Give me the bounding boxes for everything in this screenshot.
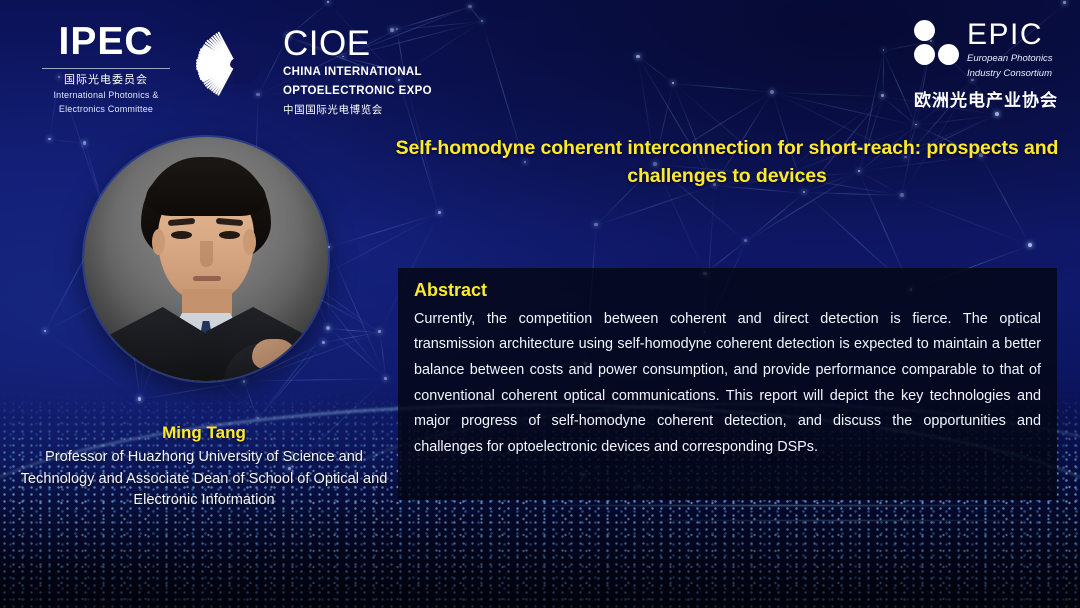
cioe-chinese-name: 中国国际光电博览会 — [283, 102, 432, 117]
network-edge — [673, 83, 772, 93]
network-edge — [328, 247, 330, 328]
speaker-info: Ming Tang Professor of Huazhong Universi… — [8, 422, 400, 512]
network-node — [326, 326, 330, 330]
network-node — [803, 191, 805, 193]
talk-title: Self-homodyne coherent interconnection f… — [392, 135, 1062, 190]
logo-ipec: IPEC 国际光电委员会 International Photonics & E… — [42, 22, 170, 116]
network-node — [378, 330, 381, 333]
network-edge — [379, 332, 386, 379]
network-edge — [772, 92, 916, 126]
abstract-heading: Abstract — [414, 280, 1041, 302]
network-node — [594, 223, 598, 227]
epic-subtitle-line2: Industry Consortium — [967, 68, 1053, 80]
cioe-fan-notch — [233, 42, 275, 84]
epic-chinese-name: 欧洲光电产业协会 — [914, 86, 1058, 111]
network-edge — [883, 50, 917, 125]
epic-dot-bottom-left — [914, 44, 935, 65]
network-edge — [50, 139, 85, 144]
network-edge — [328, 328, 386, 380]
light-streak — [620, 520, 1060, 521]
ipec-chinese-name: 国际光电委员会 — [42, 74, 170, 88]
cioe-text-block: CIOE CHINA INTERNATIONAL OPTOELECTRONIC … — [283, 24, 432, 117]
network-edge — [745, 192, 804, 242]
logo-epic: EPIC European Photonics Industry Consort… — [914, 20, 1058, 111]
epic-subtitle-line1: European Photonics — [967, 53, 1053, 65]
network-node — [883, 49, 885, 51]
network-node — [257, 417, 259, 419]
network-node — [995, 112, 999, 116]
portrait-vignette — [84, 137, 328, 381]
network-edge — [328, 328, 379, 333]
cioe-subtitle-line1: CHINA INTERNATIONAL — [283, 65, 432, 80]
network-node — [481, 20, 483, 22]
network-node — [44, 330, 46, 332]
network-edge — [804, 192, 902, 196]
speaker-portrait — [84, 137, 328, 381]
network-edge — [329, 213, 440, 248]
network-edge — [916, 114, 997, 125]
ipec-english-line2: Electronics Committee — [42, 104, 170, 116]
abstract-body: Currently, the competition between coher… — [414, 307, 1041, 461]
network-edge — [139, 381, 244, 400]
network-edge — [244, 382, 259, 419]
epic-wordmark: EPIC — [967, 20, 1053, 50]
light-streak — [500, 505, 1060, 506]
speaker-name: Ming Tang — [8, 422, 400, 445]
epic-dots-icon — [914, 20, 960, 65]
network-node — [138, 397, 141, 400]
network-node — [48, 138, 51, 141]
network-node — [468, 5, 471, 8]
network-node — [1063, 1, 1065, 3]
ipec-wordmark: IPEC — [42, 22, 170, 61]
network-edge — [324, 332, 380, 343]
network-node — [915, 124, 917, 126]
network-edge — [328, 247, 386, 379]
network-node — [384, 377, 387, 380]
network-edge — [901, 195, 1030, 246]
network-edge — [638, 57, 674, 84]
network-node — [438, 211, 441, 214]
speaker-role: Professor of Huazhong University of Scie… — [8, 447, 400, 512]
network-node — [881, 94, 884, 97]
network-node — [636, 55, 640, 59]
network-node — [322, 341, 325, 344]
network-edge — [470, 7, 483, 22]
network-node — [327, 1, 329, 3]
network-node — [328, 246, 330, 248]
network-node — [83, 141, 86, 144]
cioe-subtitle-line2: OPTOELECTRONIC EXPO — [283, 84, 432, 99]
network-node — [672, 82, 674, 84]
network-node — [770, 90, 774, 94]
ipec-divider — [42, 68, 170, 69]
network-edge — [596, 185, 715, 226]
conference-speaker-slide: IPEC 国际光电委员会 International Photonics & E… — [0, 0, 1080, 608]
cioe-fan-icon — [196, 24, 274, 102]
network-node — [1028, 243, 1032, 247]
logo-cioe: CIOE CHINA INTERNATIONAL OPTOELECTRONIC … — [196, 24, 432, 117]
abstract-panel: Abstract Currently, the competition betw… — [398, 268, 1057, 500]
network-edge — [772, 92, 883, 97]
epic-dot-top-left — [914, 20, 935, 41]
network-edge — [882, 96, 916, 125]
network-edge — [882, 51, 884, 97]
epic-dot-bottom-right — [938, 44, 959, 65]
ipec-english-line1: International Photonics & — [42, 90, 170, 102]
cioe-wordmark: CIOE — [283, 26, 432, 61]
network-node — [744, 239, 747, 242]
network-node — [900, 193, 904, 197]
